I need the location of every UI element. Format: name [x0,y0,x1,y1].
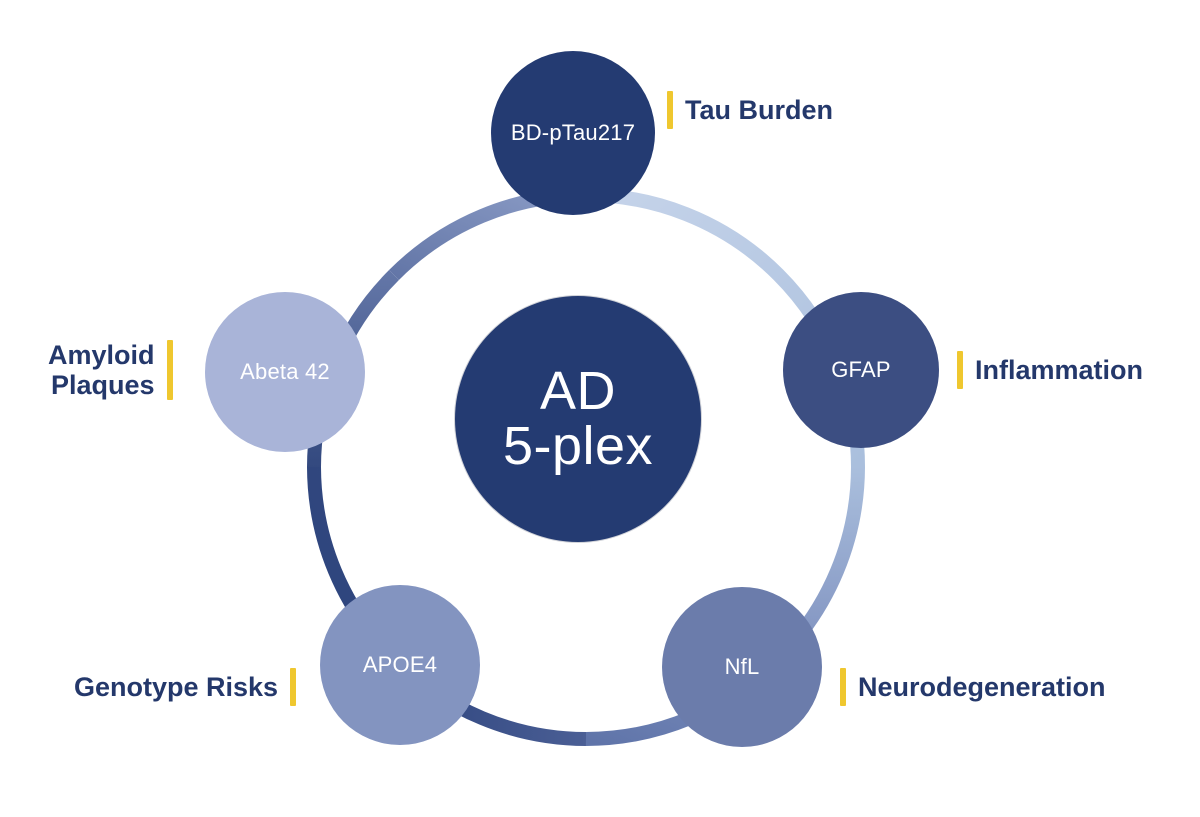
callout-text-amyloid-plaques: Amyloid Plaques [48,340,155,400]
diagram-canvas: AD 5-plex BD-pTau217 GFAP NfL APOE4 Abet… [0,0,1200,800]
accent-bar-icon [840,668,846,706]
node-label-apoe4: APOE4 [363,652,437,678]
callout-genotype-risks[interactable]: Genotype Risks [74,668,296,706]
node-gfap[interactable]: GFAP [783,292,939,448]
callout-text-neurodegeneration: Neurodegeneration [858,672,1106,702]
callout-text-inflammation: Inflammation [975,355,1143,385]
callout-inflammation[interactable]: Inflammation [957,351,1143,389]
callout-text-genotype-risks: Genotype Risks [74,672,278,702]
node-abeta42[interactable]: Abeta 42 [205,292,365,452]
callout-text-tau-burden: Tau Burden [685,95,833,125]
callout-amyloid-plaques[interactable]: Amyloid Plaques [48,340,173,400]
node-apoe4[interactable]: APOE4 [320,585,480,745]
node-nfl[interactable]: NfL [662,587,822,747]
callout-tau-burden[interactable]: Tau Burden [667,91,833,129]
node-bd-ptau217[interactable]: BD-pTau217 [491,51,655,215]
accent-bar-icon [957,351,963,389]
callout-neurodegeneration[interactable]: Neurodegeneration [840,668,1106,706]
node-label-bd-ptau217: BD-pTau217 [511,120,635,146]
accent-bar-icon [290,668,296,706]
hub-title-line1: AD [540,364,616,419]
node-label-gfap: GFAP [831,357,891,383]
accent-bar-icon [667,91,673,129]
center-hub: AD 5-plex [455,296,701,542]
accent-bar-icon [167,340,173,400]
hub-title-line2: 5-plex [503,419,653,474]
node-label-abeta42: Abeta 42 [240,359,330,385]
node-label-nfl: NfL [725,654,760,680]
